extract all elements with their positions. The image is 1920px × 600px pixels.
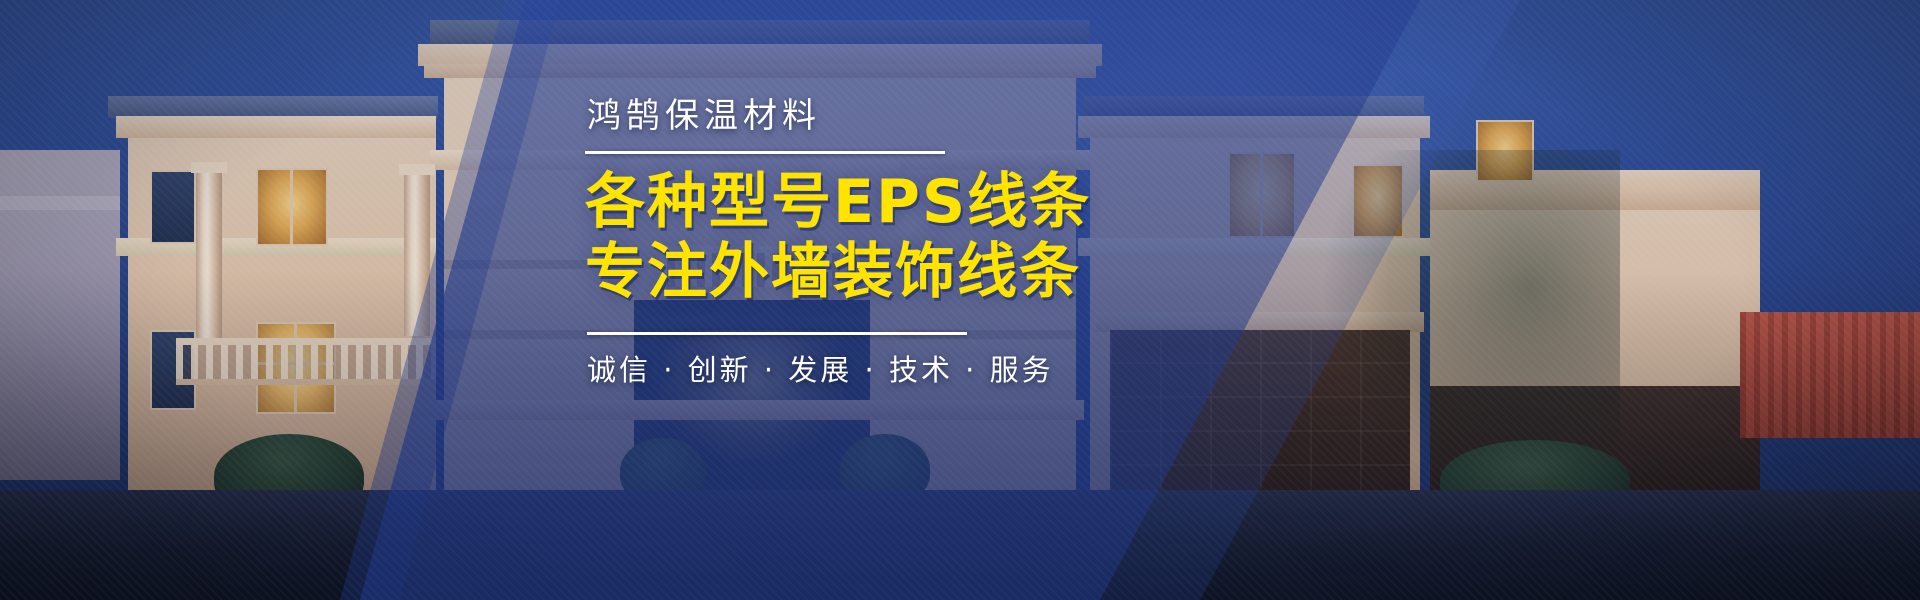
banner-text-block: 鸿鹄保温材料 各种型号EPS线条 专注外墙装饰线条 诚信 · 创新 · 发展 ·… xyxy=(585,98,1345,387)
tagline: 诚信 · 创新 · 发展 · 技术 · 服务 xyxy=(587,353,1345,388)
divider-top xyxy=(585,151,945,154)
divider-bottom xyxy=(587,332,967,335)
headline-line-1: 各种型号EPS线条 xyxy=(585,168,1345,238)
headline-line-2: 专注外墙装饰线条 xyxy=(585,238,1345,308)
hero-banner: 鸿鹄保温材料 各种型号EPS线条 专注外墙装饰线条 诚信 · 创新 · 发展 ·… xyxy=(0,0,1920,600)
brand-name: 鸿鹄保温材料 xyxy=(585,98,1345,135)
